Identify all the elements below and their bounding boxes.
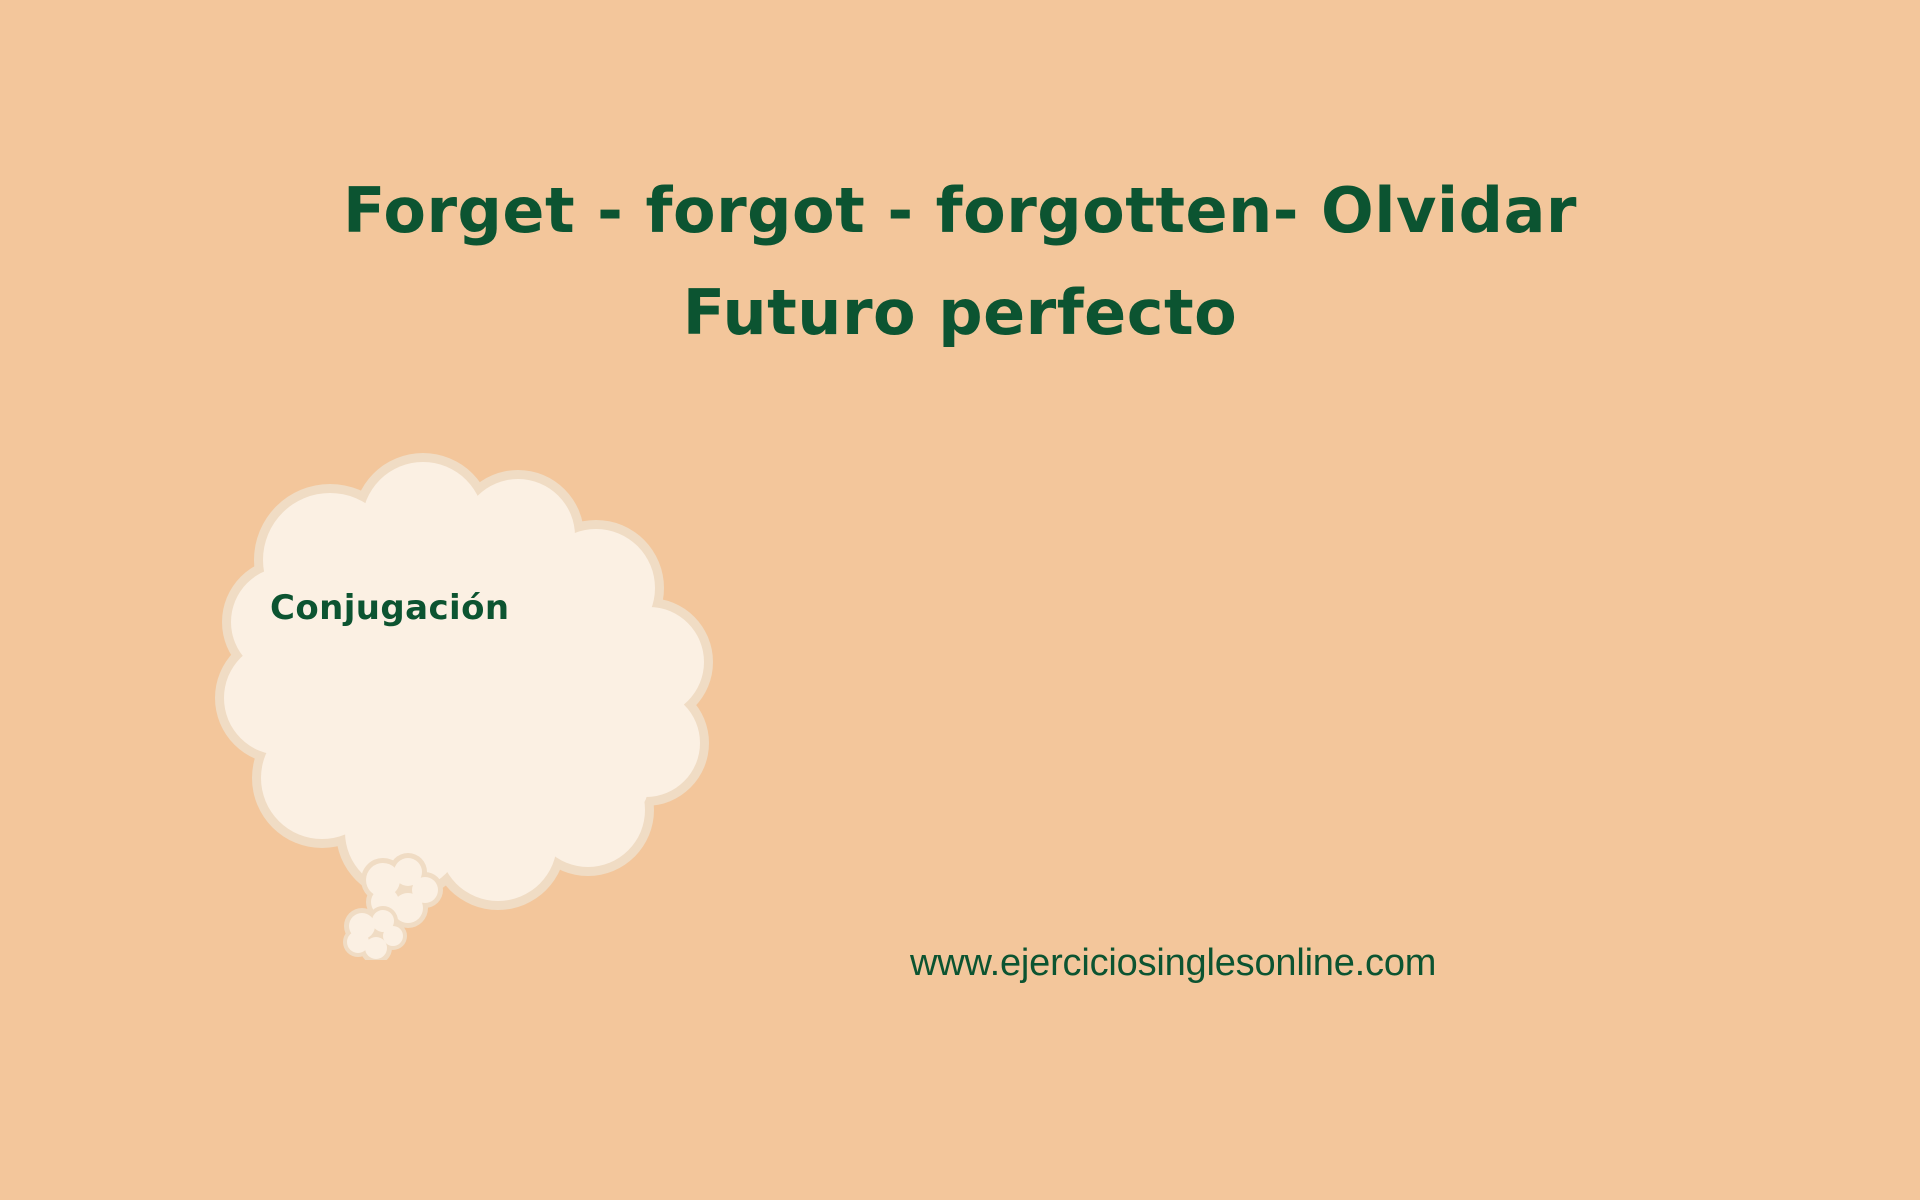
website-url: www.ejerciciosinglesonline.com: [910, 942, 1436, 985]
heading-block: Forget - forgot - forgotten- Olvidar Fut…: [0, 180, 1920, 344]
slide-canvas: Forget - forgot - forgotten- Olvidar Fut…: [0, 0, 1920, 1200]
thought-bubble-label: Conjugación: [270, 590, 650, 627]
page-title: Forget - forgot - forgotten- Olvidar: [0, 180, 1920, 242]
thought-bubble-outline: [215, 453, 713, 910]
thought-bubble-shape: [180, 440, 740, 960]
page-subtitle: Futuro perfecto: [0, 282, 1920, 344]
thought-bubble: Conjugación: [180, 440, 740, 960]
